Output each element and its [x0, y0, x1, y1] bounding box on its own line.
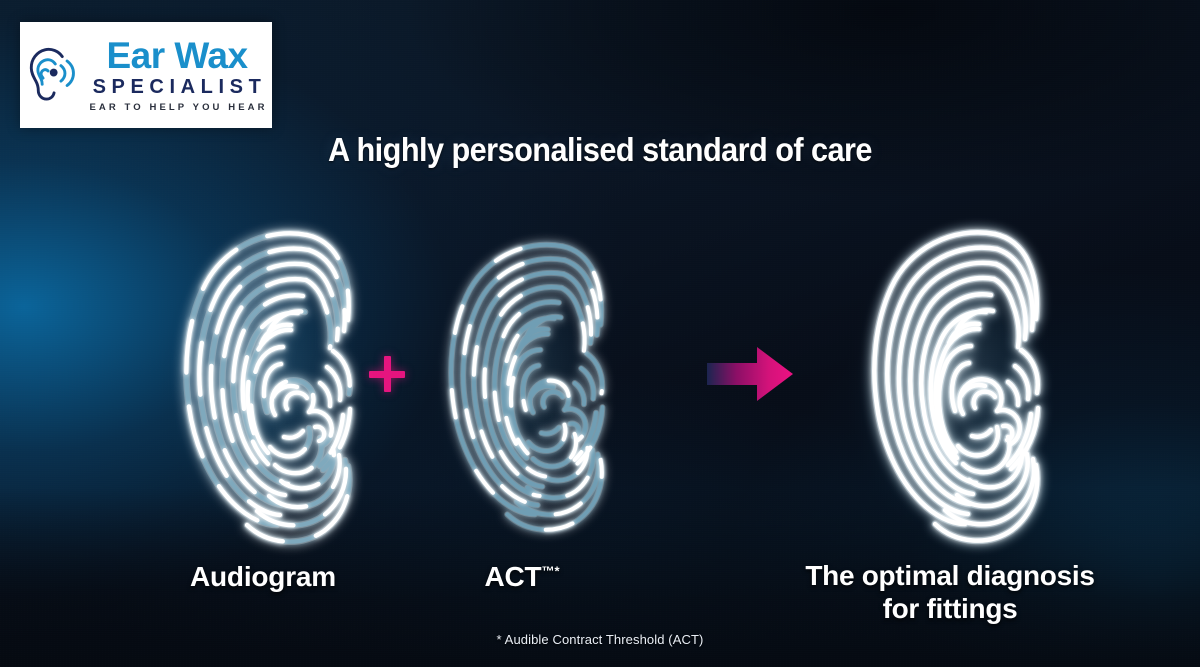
figure-optimal-diagnosis-ear-fingerprint: [845, 216, 1057, 550]
figure-act-ear-fingerprint: [424, 225, 620, 543]
caption-act-text: ACT: [484, 561, 541, 592]
logo-line-1: Ear Wax: [106, 37, 247, 74]
caption-act: ACT™*: [424, 561, 620, 593]
footnote: * Audible Contract Threshold (ACT): [0, 632, 1200, 647]
caption-audiogram: Audiogram: [160, 561, 366, 593]
slide-canvas: Ear Wax SPECIALIST EAR TO HELP YOU HEAR …: [0, 0, 1200, 667]
caption-optimal-diagnosis-line2: for fittings: [790, 593, 1110, 626]
logo-line-2: SPECIALIST: [88, 77, 267, 97]
caption-optimal-diagnosis: The optimal diagnosis for fittings: [790, 560, 1110, 626]
caption-optimal-diagnosis-line1: The optimal diagnosis: [790, 560, 1110, 593]
page-title: A highly personalised standard of care: [42, 131, 1158, 169]
caption-act-superscript: ™*: [541, 564, 559, 579]
logo-tagline: EAR TO HELP YOU HEAR: [86, 103, 267, 113]
plus-icon: [369, 356, 405, 392]
arrow-right-icon: [705, 344, 795, 404]
figure-audiogram-ear-fingerprint: [157, 219, 369, 549]
ear-soundwave-icon: [24, 44, 80, 106]
brand-logo[interactable]: Ear Wax SPECIALIST EAR TO HELP YOU HEAR: [20, 22, 272, 128]
